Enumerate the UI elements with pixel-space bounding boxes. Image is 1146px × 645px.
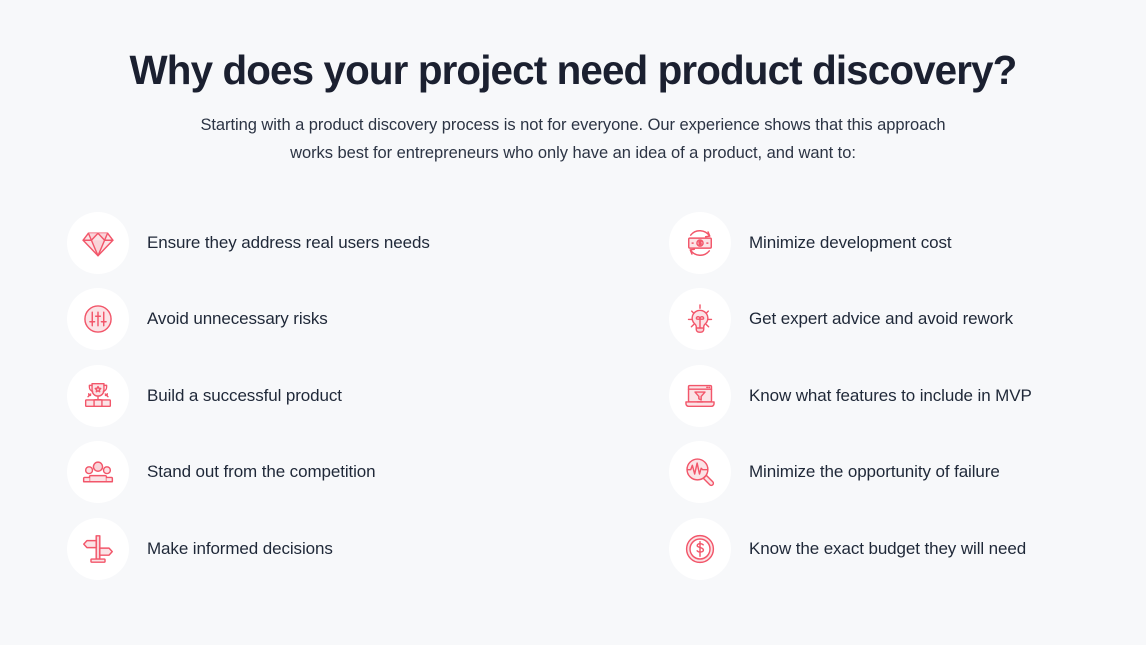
benefit-item: Ensure they address real users needs	[67, 204, 573, 281]
signpost-icon	[67, 518, 129, 580]
lightbulb-icon	[669, 288, 731, 350]
benefit-item: Make informed decisions	[67, 510, 573, 587]
page-title: Why does your project need product disco…	[9, 46, 1138, 94]
product-discovery-section: Why does your project need product disco…	[0, 0, 1146, 645]
benefit-item: Minimize development cost	[573, 204, 1079, 281]
benefit-label: Ensure they address real users needs	[147, 232, 430, 254]
trophy-podium-icon	[67, 365, 129, 427]
diamond-icon	[67, 212, 129, 274]
benefits-grid: Ensure they address real users needs Min…	[67, 167, 1079, 587]
benefit-item: Build a successful product	[67, 357, 573, 434]
benefit-label: Know what features to include in MVP	[749, 385, 1032, 407]
benefit-label: Minimize the opportunity of failure	[749, 461, 1000, 483]
section-subtitle: Starting with a product discovery proces…	[178, 111, 968, 167]
benefit-label: Make informed decisions	[147, 538, 333, 560]
benefit-label: Minimize development cost	[749, 232, 952, 254]
benefit-label: Stand out from the competition	[147, 461, 376, 483]
sliders-circle-icon	[67, 288, 129, 350]
people-group-icon	[67, 441, 129, 503]
benefit-label: Build a successful product	[147, 385, 342, 407]
dollar-coin-icon	[669, 518, 731, 580]
benefit-item: Avoid unnecessary risks	[67, 281, 573, 358]
banknote-refresh-icon	[669, 212, 731, 274]
benefit-item: Know what features to include in MVP	[573, 357, 1079, 434]
benefit-item: Stand out from the competition	[67, 434, 573, 511]
magnifier-pulse-icon	[669, 441, 731, 503]
benefit-label: Know the exact budget they will need	[749, 538, 1026, 560]
benefit-item: Know the exact budget they will need	[573, 510, 1079, 587]
laptop-funnel-icon	[669, 365, 731, 427]
benefit-label: Avoid unnecessary risks	[147, 308, 328, 330]
section-header: Why does your project need product disco…	[0, 0, 1146, 167]
benefit-item: Get expert advice and avoid rework	[573, 281, 1079, 358]
benefit-label: Get expert advice and avoid rework	[749, 308, 1013, 330]
benefit-item: Minimize the opportunity of failure	[573, 434, 1079, 511]
